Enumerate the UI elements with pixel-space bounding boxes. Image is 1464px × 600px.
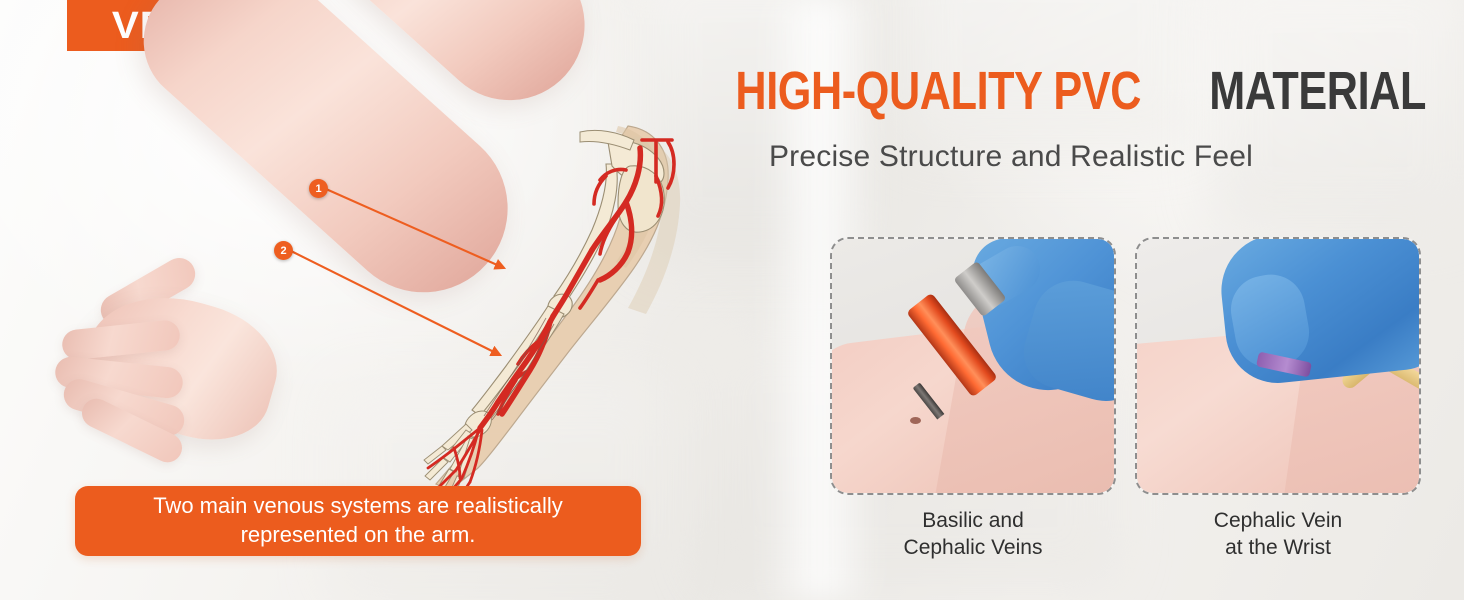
feature-callout-box: Two main venous systems are realisticall… — [75, 486, 641, 556]
photo-caption-line-1: Cephalic Vein — [1135, 508, 1421, 535]
photo-caption-cephalic-wrist: Cephalic Vein at the Wrist — [1135, 508, 1421, 562]
headline-highlight: HIGH-QUALITY PVC — [735, 64, 1141, 118]
promo-banner: VEVOR — [0, 0, 1464, 600]
feature-callout-text: Two main venous systems are realisticall… — [131, 492, 585, 549]
photo-image-wrist-catheter — [1137, 239, 1419, 493]
feature-callout-line-1: Two main venous systems are realisticall… — [153, 492, 563, 521]
photo-image-syringe-venipuncture — [832, 239, 1114, 493]
headline-rest: MATERIAL — [1209, 64, 1426, 118]
photo-caption-line-1: Basilic and — [830, 508, 1116, 535]
feature-photo-cephalic-wrist — [1135, 237, 1421, 495]
callout-marker-1-label: 1 — [315, 183, 321, 195]
callout-marker-1: 1 — [309, 179, 328, 198]
callout-marker-2: 2 — [274, 241, 293, 260]
page-title: HIGH-QUALITY PVC MATERIAL — [596, 60, 1426, 122]
puncture-site — [910, 417, 921, 424]
vascular-anatomy-illustration — [420, 118, 690, 498]
photo-caption-line-2: at the Wrist — [1135, 535, 1421, 562]
photo-caption-basilic-cephalic: Basilic and Cephalic Veins — [830, 508, 1116, 562]
page-subtitle: Precise Structure and Realistic Feel — [596, 140, 1426, 174]
feature-callout-line-2: represented on the arm. — [153, 521, 563, 550]
callout-marker-2-label: 2 — [280, 245, 286, 257]
photo-caption-line-2: Cephalic Veins — [830, 535, 1116, 562]
feature-photo-basilic-cephalic — [830, 237, 1116, 495]
